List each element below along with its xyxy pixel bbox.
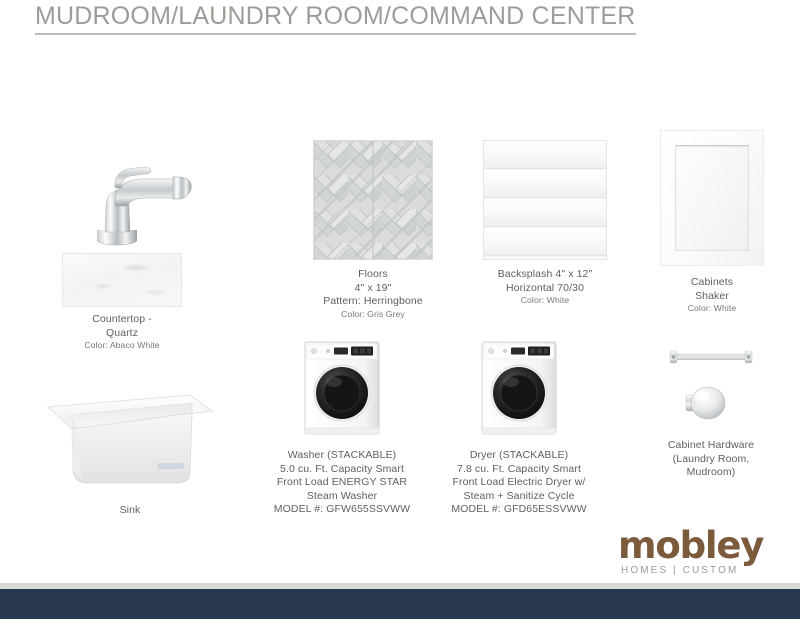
dryer-line-1: Dryer (STACKABLE) <box>425 449 613 463</box>
floors-color: Color: Gris Grey <box>293 309 453 320</box>
cabinets-line-1: Cabinets <box>632 276 792 290</box>
cabinet-hardware-caption: Cabinet Hardware (Laundry Room, Mudroom) <box>622 439 800 480</box>
sink-line-1: Sink <box>35 504 225 518</box>
sink-caption: Sink <box>35 504 225 518</box>
washer-model: MODEL #: GFW655SSVWW <box>248 503 436 517</box>
dryer-line-2: 7.8 cu. Ft. Capacity Smart <box>425 463 613 477</box>
washer-line-3: Front Load ENERGY STAR <box>248 476 436 490</box>
countertop-line-1: Countertop - <box>42 313 202 327</box>
washer-line-2: 5.0 cu. Ft. Capacity Smart <box>248 463 436 477</box>
floors-caption: Floors 4" x 19" Pattern: Herringbone Col… <box>293 268 453 320</box>
cabinet-door-art <box>660 130 764 266</box>
footer-bar <box>0 589 800 619</box>
dryer-model: MODEL #: GFD65ESSVWW <box>425 503 613 517</box>
item-countertop: Countertop - Quartz Color: Abaco White <box>42 253 202 351</box>
logo-wordmark: mobley <box>618 528 778 564</box>
cabinets-color: Color: White <box>632 303 792 314</box>
backsplash-tile-swatch <box>483 140 607 260</box>
washer-icon <box>303 340 381 436</box>
item-cabinets: Cabinets Shaker Color: White <box>632 130 792 314</box>
hardware-line-2: (Laundry Room, <box>622 453 800 467</box>
dryer-icon <box>480 340 558 436</box>
brand-logo: mobley HOMES | CUSTOM <box>618 528 778 576</box>
backsplash-caption: Backsplash 4" x 12" Horizontal 70/30 Col… <box>460 268 630 306</box>
washer-line-1: Washer (STACKABLE) <box>248 449 436 463</box>
cabinet-door-panel <box>675 145 749 251</box>
floors-line-2: 4" x 19" <box>293 282 453 296</box>
washer-line-4: Steam Washer <box>248 490 436 504</box>
item-backsplash: Backsplash 4" x 12" Horizontal 70/30 Col… <box>460 140 630 306</box>
backsplash-line-1: Backsplash 4" x 12" <box>460 268 630 282</box>
countertop-color: Color: Abaco White <box>42 340 202 351</box>
cabinet-hardware-icon <box>656 340 766 432</box>
countertop-swatch <box>62 253 182 307</box>
item-washer: Washer (STACKABLE) 5.0 cu. Ft. Capacity … <box>248 340 436 517</box>
floor-tile-swatch <box>313 140 433 260</box>
herringbone-pattern <box>314 141 432 259</box>
cabinets-line-2: Shaker <box>632 290 792 304</box>
backsplash-line-2: Horizontal 70/30 <box>460 282 630 296</box>
washer-caption: Washer (STACKABLE) 5.0 cu. Ft. Capacity … <box>248 449 436 517</box>
dryer-line-4: Steam + Sanitize Cycle <box>425 490 613 504</box>
cabinets-caption: Cabinets Shaker Color: White <box>632 276 792 314</box>
item-faucet <box>60 150 220 250</box>
dryer-line-3: Front Load Electric Dryer w/ <box>425 476 613 490</box>
item-sink: Sink <box>35 385 225 518</box>
dryer-caption: Dryer (STACKABLE) 7.8 cu. Ft. Capacity S… <box>425 449 613 517</box>
sink-icon <box>40 385 220 495</box>
hardware-line-3: Mudroom) <box>622 466 800 480</box>
item-cabinet-hardware: Cabinet Hardware (Laundry Room, Mudroom) <box>622 340 800 480</box>
countertop-line-2: Quartz <box>42 327 202 341</box>
floors-line-1: Floors <box>293 268 453 282</box>
item-floors: Floors 4" x 19" Pattern: Herringbone Col… <box>293 140 453 320</box>
floors-line-3: Pattern: Herringbone <box>293 295 453 309</box>
page-title: MUDROOM/LAUNDRY ROOM/COMMAND CENTER <box>35 2 636 35</box>
backsplash-color: Color: White <box>460 295 630 306</box>
hardware-line-1: Cabinet Hardware <box>622 439 800 453</box>
faucet-icon <box>75 150 205 250</box>
item-dryer: Dryer (STACKABLE) 7.8 cu. Ft. Capacity S… <box>425 340 613 517</box>
countertop-caption: Countertop - Quartz Color: Abaco White <box>42 313 202 351</box>
